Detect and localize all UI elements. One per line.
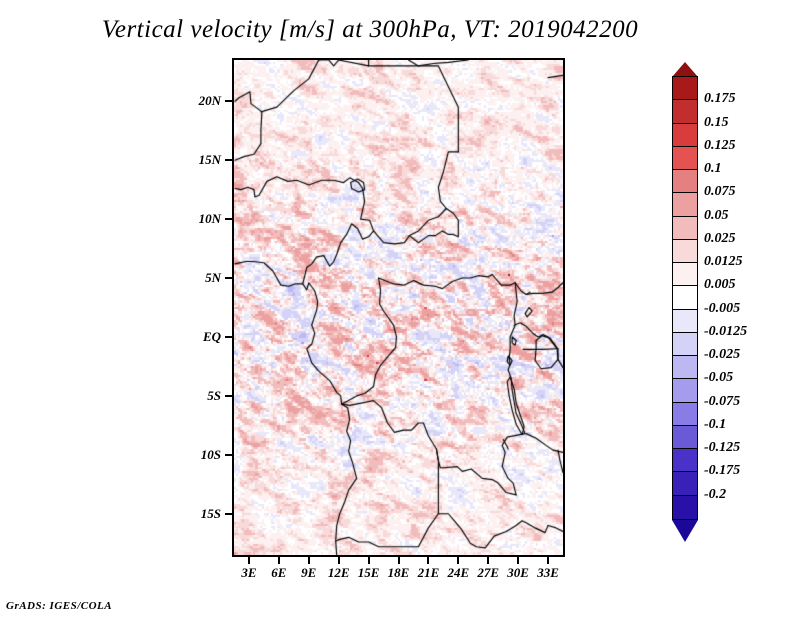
lat-tick-mark [225, 336, 232, 338]
colorbar-tick-label: 0.0125 [704, 254, 743, 270]
lat-tick-mark [225, 100, 232, 102]
lat-tick-label: EQ [203, 329, 221, 345]
lon-tick-mark [368, 557, 370, 564]
lat-tick-label: 10S [201, 447, 221, 463]
lon-tick-label: 24E [447, 565, 469, 581]
colorbar-tick-label: 0.025 [704, 231, 736, 247]
lon-tick-mark [547, 557, 549, 564]
lon-tick-label: 15E [358, 565, 380, 581]
colorbar-tick-label: -0.1 [704, 417, 726, 433]
lon-tick-label: 21E [418, 565, 440, 581]
lon-tick-label: 27E [477, 565, 499, 581]
lon-tick-mark [278, 557, 280, 564]
lat-tick-mark [225, 454, 232, 456]
colorbar-swatch [672, 99, 698, 124]
lat-tick-mark [225, 218, 232, 220]
colorbar-swatch [672, 285, 698, 310]
lon-tick-mark [517, 557, 519, 564]
colorbar-swatch [672, 146, 698, 171]
lon-tick-label: 12E [328, 565, 350, 581]
colorbar-tick-label: -0.075 [704, 394, 740, 410]
lat-tick-label: 10N [199, 211, 221, 227]
page-title: Vertical velocity [m/s] at 300hPa, VT: 2… [0, 16, 740, 44]
colorbar-extend-max-arrow [672, 62, 698, 77]
lon-tick-mark [248, 557, 250, 564]
lon-tick-mark [398, 557, 400, 564]
colorbar-tick-label: -0.0125 [704, 324, 747, 340]
colorbar-tick-label: -0.175 [704, 463, 740, 479]
colorbar [672, 76, 698, 518]
lon-tick-label: 3E [241, 565, 256, 581]
lat-tick-label: 20N [199, 93, 221, 109]
colorbar-swatch [672, 262, 698, 287]
lon-tick-mark [308, 557, 310, 564]
colorbar-tick-label: 0.05 [704, 208, 729, 224]
lat-tick-mark [225, 513, 232, 515]
vertical-velocity-heatmap [234, 60, 563, 555]
colorbar-tick-label: -0.05 [704, 370, 733, 386]
colorbar-swatch [672, 471, 698, 496]
colorbar-tick-label: -0.2 [704, 487, 726, 503]
colorbar-tick-label: 0.1 [704, 161, 722, 177]
colorbar-tick-label: -0.025 [704, 347, 740, 363]
lat-tick-label: 5N [205, 270, 221, 286]
colorbar-tick-label: 0.125 [704, 138, 736, 154]
colorbar-tick-label: -0.005 [704, 301, 740, 317]
lat-tick-label: 15S [201, 506, 221, 522]
colorbar-swatch [672, 495, 698, 520]
colorbar-swatch [672, 448, 698, 473]
lon-tick-label: 9E [301, 565, 316, 581]
lat-tick-label: 5S [207, 388, 221, 404]
colorbar-tick-label: 0.005 [704, 277, 736, 293]
lon-tick-mark [338, 557, 340, 564]
lon-tick-label: 33E [537, 565, 559, 581]
colorbar-swatch [672, 402, 698, 427]
lon-tick-label: 6E [271, 565, 286, 581]
colorbar-swatch [672, 239, 698, 264]
grads-attribution: GrADS: IGES/COLA [6, 600, 112, 612]
lat-tick-label: 15N [199, 152, 221, 168]
lon-tick-label: 18E [388, 565, 410, 581]
colorbar-tick-label: 0.075 [704, 184, 736, 200]
colorbar-swatch [672, 355, 698, 380]
lat-tick-mark [225, 395, 232, 397]
lon-tick-mark [427, 557, 429, 564]
colorbar-swatch [672, 309, 698, 334]
lat-tick-mark [225, 159, 232, 161]
colorbar-extend-min-arrow [672, 520, 698, 542]
lon-tick-mark [457, 557, 459, 564]
colorbar-tick-label: 0.15 [704, 115, 729, 131]
colorbar-swatch [672, 332, 698, 357]
colorbar-swatch [672, 425, 698, 450]
colorbar-swatch [672, 169, 698, 194]
colorbar-swatch [672, 216, 698, 241]
lon-tick-label: 30E [507, 565, 529, 581]
colorbar-tick-label: -0.125 [704, 440, 740, 456]
colorbar-swatch [672, 76, 698, 101]
colorbar-swatch [672, 123, 698, 148]
colorbar-swatch [672, 192, 698, 217]
map-plot-frame [232, 58, 565, 557]
colorbar-tick-label: 0.175 [704, 91, 736, 107]
lat-tick-mark [225, 277, 232, 279]
lon-tick-mark [487, 557, 489, 564]
colorbar-swatch [672, 378, 698, 403]
